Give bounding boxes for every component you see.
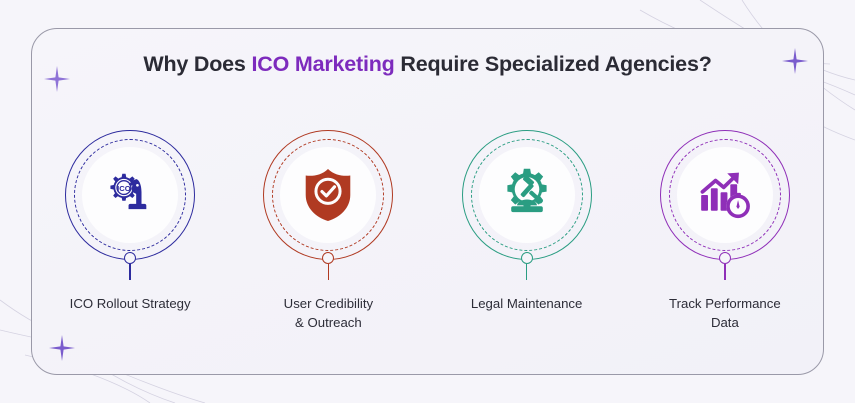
icon-disc: [677, 147, 773, 243]
label-line-1: User Credibility: [284, 296, 373, 311]
icon-disc: [479, 147, 575, 243]
bar-chart-trend-stopwatch-icon: [697, 168, 753, 222]
icon-disc: ICO: [82, 147, 178, 243]
icon-badge: [652, 128, 798, 280]
icon-badge: [454, 128, 600, 280]
icon-badge: ICO: [57, 128, 203, 280]
list-item-track-performance-data[interactable]: Track Performance Data: [626, 128, 824, 343]
gear-ico-chess-knight-icon: ICO: [101, 166, 159, 224]
gear-gavel-icon: [498, 167, 556, 223]
list-item-label: Track Performance Data: [669, 294, 781, 332]
connector-stem: [129, 264, 131, 280]
list-item-user-credibility-outreach[interactable]: User Credibility & Outreach: [229, 128, 427, 343]
connector-dot: [124, 252, 136, 264]
list-item-label: User Credibility & Outreach: [284, 294, 373, 332]
icon-disc: [280, 147, 376, 243]
connector-stem: [526, 264, 528, 280]
icon-badge: [255, 128, 401, 280]
page-title: Why Does ICO Marketing Require Specializ…: [0, 52, 855, 77]
label-line-2: & Outreach: [295, 315, 362, 330]
svg-text:ICO: ICO: [117, 184, 131, 193]
connector: [322, 252, 334, 280]
list-item-ico-rollout-strategy[interactable]: ICO ICO Rollout Strategy: [31, 128, 229, 343]
connector: [521, 252, 533, 280]
connector-dot: [719, 252, 731, 264]
list-item-legal-maintenance[interactable]: Legal Maintenance: [428, 128, 626, 343]
connector-dot: [322, 252, 334, 264]
feature-list: ICO ICO Rollout Strategy: [31, 128, 824, 343]
label-line-2: Data: [711, 315, 739, 330]
list-item-label: ICO Rollout Strategy: [70, 294, 191, 313]
shield-check-icon: [302, 167, 354, 223]
connector-dot: [521, 252, 533, 264]
title-prefix: Why Does: [143, 52, 251, 76]
title-highlight: ICO Marketing: [251, 52, 394, 76]
connector-stem: [328, 264, 330, 280]
label-line-1: Track Performance: [669, 296, 781, 311]
title-suffix: Require Specialized Agencies?: [395, 52, 712, 76]
connector: [719, 252, 731, 280]
list-item-label: Legal Maintenance: [471, 294, 582, 313]
connector-stem: [724, 264, 726, 280]
connector: [124, 252, 136, 280]
